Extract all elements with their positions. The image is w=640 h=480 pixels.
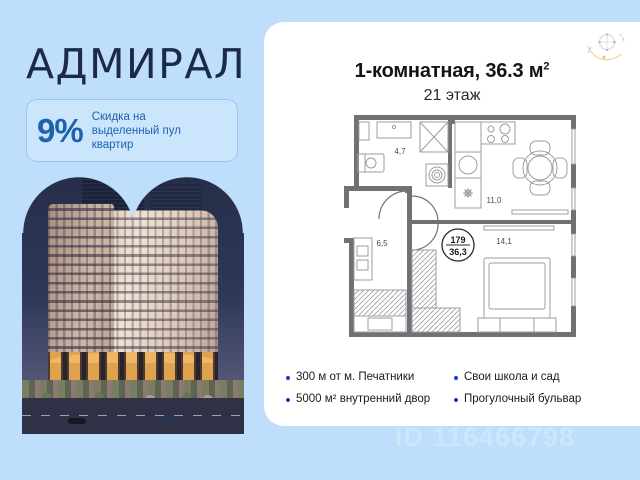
road-center-line (22, 415, 244, 416)
building-render-image (22, 176, 244, 434)
promo-percent: 9% (37, 114, 83, 147)
building-arcade-groundfloor (48, 352, 218, 382)
promo-line-1: Скидка на (92, 110, 181, 124)
feature-item-metro: 300 м от м. Печатники (286, 370, 454, 384)
promo-line-3: квартир (92, 138, 181, 152)
brand-logo: АДМИРАЛ (26, 40, 246, 88)
compass-sun-path-icon (580, 26, 626, 72)
plan-bedroom-furniture (478, 258, 556, 332)
features-list: 300 м от м. Печатники Свои школа и сад 5… (286, 370, 626, 414)
street (22, 398, 244, 434)
bullet-icon (286, 398, 290, 402)
plan-dining-set (513, 141, 567, 195)
feature-item-school: Свои школа и сад (454, 370, 622, 384)
promo-description: Скидка на выделенный пул квартир (92, 110, 181, 152)
bullet-icon (286, 376, 290, 380)
bullet-icon (454, 398, 458, 402)
floor-label: 21 этаж (264, 87, 640, 105)
feature-item-courtyard: 5000 м² внутренний двор (286, 392, 454, 406)
page-title-superscript: 2 (543, 60, 549, 72)
plan-area-hall: 6,5 (376, 239, 388, 248)
feature-label: 5000 м² внутренний двор (296, 392, 430, 406)
feature-label: Прогулочный бульвар (464, 392, 581, 406)
car (68, 418, 86, 424)
bullet-icon (454, 376, 458, 380)
promo-line-2: выделенный пул (92, 124, 181, 138)
feature-label: Свои школа и сад (464, 370, 560, 384)
plan-badge-area: 36,3 (449, 247, 467, 257)
building-facade-side (48, 204, 114, 358)
page-title-text: 1-комнатная, 36.3 м (355, 60, 544, 82)
building-render-mask (22, 176, 244, 434)
features-row-2: 5000 м² внутренний двор Прогулочный буль… (286, 392, 626, 414)
floor-plan: 4,7 11,0 6,5 14,1 179 36,3 (344, 110, 594, 342)
plan-area-bathroom: 4,7 (394, 147, 406, 156)
brand-panel: АДМИРАЛ 9% Скидка на выделенный пул квар… (0, 0, 264, 480)
plan-area-kitchen: 11,0 (487, 196, 503, 205)
door-hinge (405, 188, 410, 193)
feature-item-boulevard: Прогулочный бульвар (454, 392, 622, 406)
poster-root: АДМИРАЛ 9% Скидка на выделенный пул квар… (0, 0, 640, 480)
features-row-1: 300 м от м. Печатники Свои школа и сад (286, 370, 626, 392)
promo-badge: 9% Скидка на выделенный пул квартир (26, 99, 238, 162)
plan-kitchen-fixtures (455, 122, 515, 208)
plan-area-bedroom: 14,1 (496, 237, 512, 246)
feature-label: 300 м от м. Печатники (296, 370, 414, 384)
car (158, 418, 176, 424)
listing-card: 1-комнатная, 36.3 м2 21 этаж (264, 22, 640, 426)
plan-badge-number: 179 (450, 235, 465, 245)
plan-unit-badge: 179 36,3 (442, 229, 474, 261)
